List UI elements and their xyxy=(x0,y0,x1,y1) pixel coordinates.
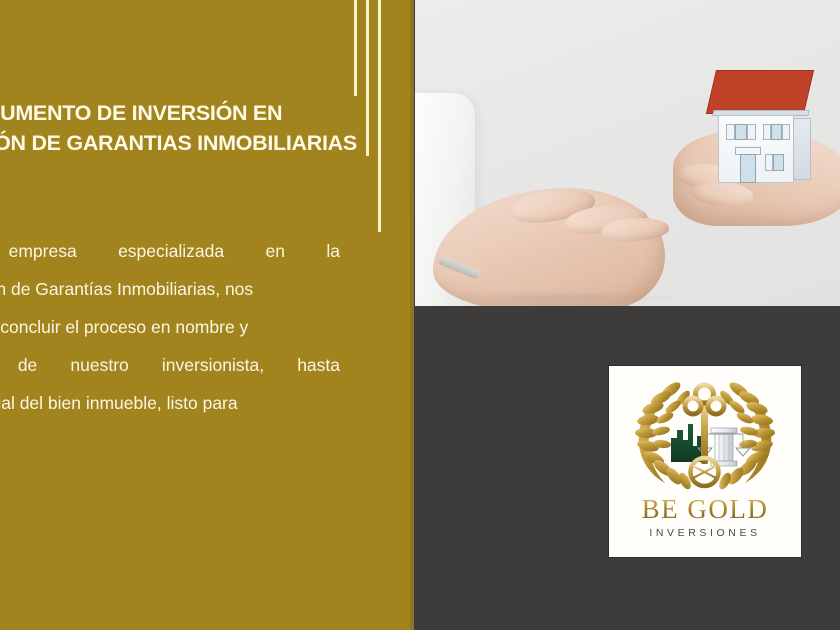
body-word: de xyxy=(18,346,37,384)
body-word: empresa xyxy=(9,232,77,270)
model-house-icon xyxy=(711,70,815,186)
body-line-6: r. xyxy=(0,422,340,460)
hands-with-house-photo xyxy=(415,0,840,306)
body-word: mos de concluir el proceso en nombre y xyxy=(0,308,248,346)
decorative-line-2 xyxy=(366,0,369,156)
house-window xyxy=(771,124,782,140)
laurel-left xyxy=(635,379,693,491)
presentation-slide: STRUMENTO DE INVERSIÓN EN ACIÓN DE GARAN… xyxy=(0,0,840,630)
body-word: hasta xyxy=(297,346,340,384)
house-window xyxy=(773,154,784,171)
window-shutter xyxy=(747,124,756,140)
be-gold-emblem-icon xyxy=(627,376,783,494)
body-word: la xyxy=(326,232,340,270)
body-word: alización de Garantías Inmobiliarias, no… xyxy=(0,270,253,308)
right-column: BE GOLD INVERSIONES xyxy=(414,0,840,630)
body-word: nuestro xyxy=(70,346,128,384)
slide-body-text: una empresa especializada en la alizació… xyxy=(0,232,340,460)
photo-shadow xyxy=(439,292,689,304)
house-roof xyxy=(706,70,814,114)
logo-subtitle: INVERSIONES xyxy=(609,527,801,539)
body-line-3: mos de concluir el proceso en nombre y xyxy=(0,308,340,346)
decorative-line-1 xyxy=(354,0,357,96)
window-shutter xyxy=(782,124,790,140)
logo-wordmark: BE GOLD INVERSIONES xyxy=(609,494,801,539)
house-side-wall xyxy=(793,118,811,180)
house-window xyxy=(735,124,747,140)
title-line-2: ACIÓN DE GARANTIAS INMOBILIARIAS xyxy=(0,128,350,158)
gold-content-panel: STRUMENTO DE INVERSIÓN EN ACIÓN DE GARAN… xyxy=(0,0,414,630)
window-shutter xyxy=(763,124,771,140)
decorative-line-3 xyxy=(378,0,381,232)
body-word: en xyxy=(266,232,285,270)
title-line-1: STRUMENTO DE INVERSIÓN EN xyxy=(0,98,350,128)
house-door xyxy=(740,154,756,183)
body-line-4: tación de nuestro inversionista, hasta xyxy=(0,346,340,384)
logo-name: BE GOLD xyxy=(609,494,801,524)
dark-logo-panel: BE GOLD INVERSIONES xyxy=(415,306,840,630)
body-line-1: una empresa especializada en la xyxy=(0,232,340,270)
slide-title: STRUMENTO DE INVERSIÓN EN ACIÓN DE GARAN… xyxy=(0,98,350,158)
window-shutter xyxy=(765,154,773,171)
body-line-5: a material del bien inmueble, listo para xyxy=(0,384,340,422)
body-line-2: alización de Garantías Inmobiliarias, no… xyxy=(0,270,340,308)
body-word: especializada xyxy=(118,232,224,270)
body-word: inversionista, xyxy=(162,346,264,384)
city-skyline-icon xyxy=(671,424,701,462)
company-logo-card: BE GOLD INVERSIONES xyxy=(609,366,801,557)
window-shutter xyxy=(726,124,735,140)
body-word: a material del bien inmueble, listo para xyxy=(0,384,238,422)
